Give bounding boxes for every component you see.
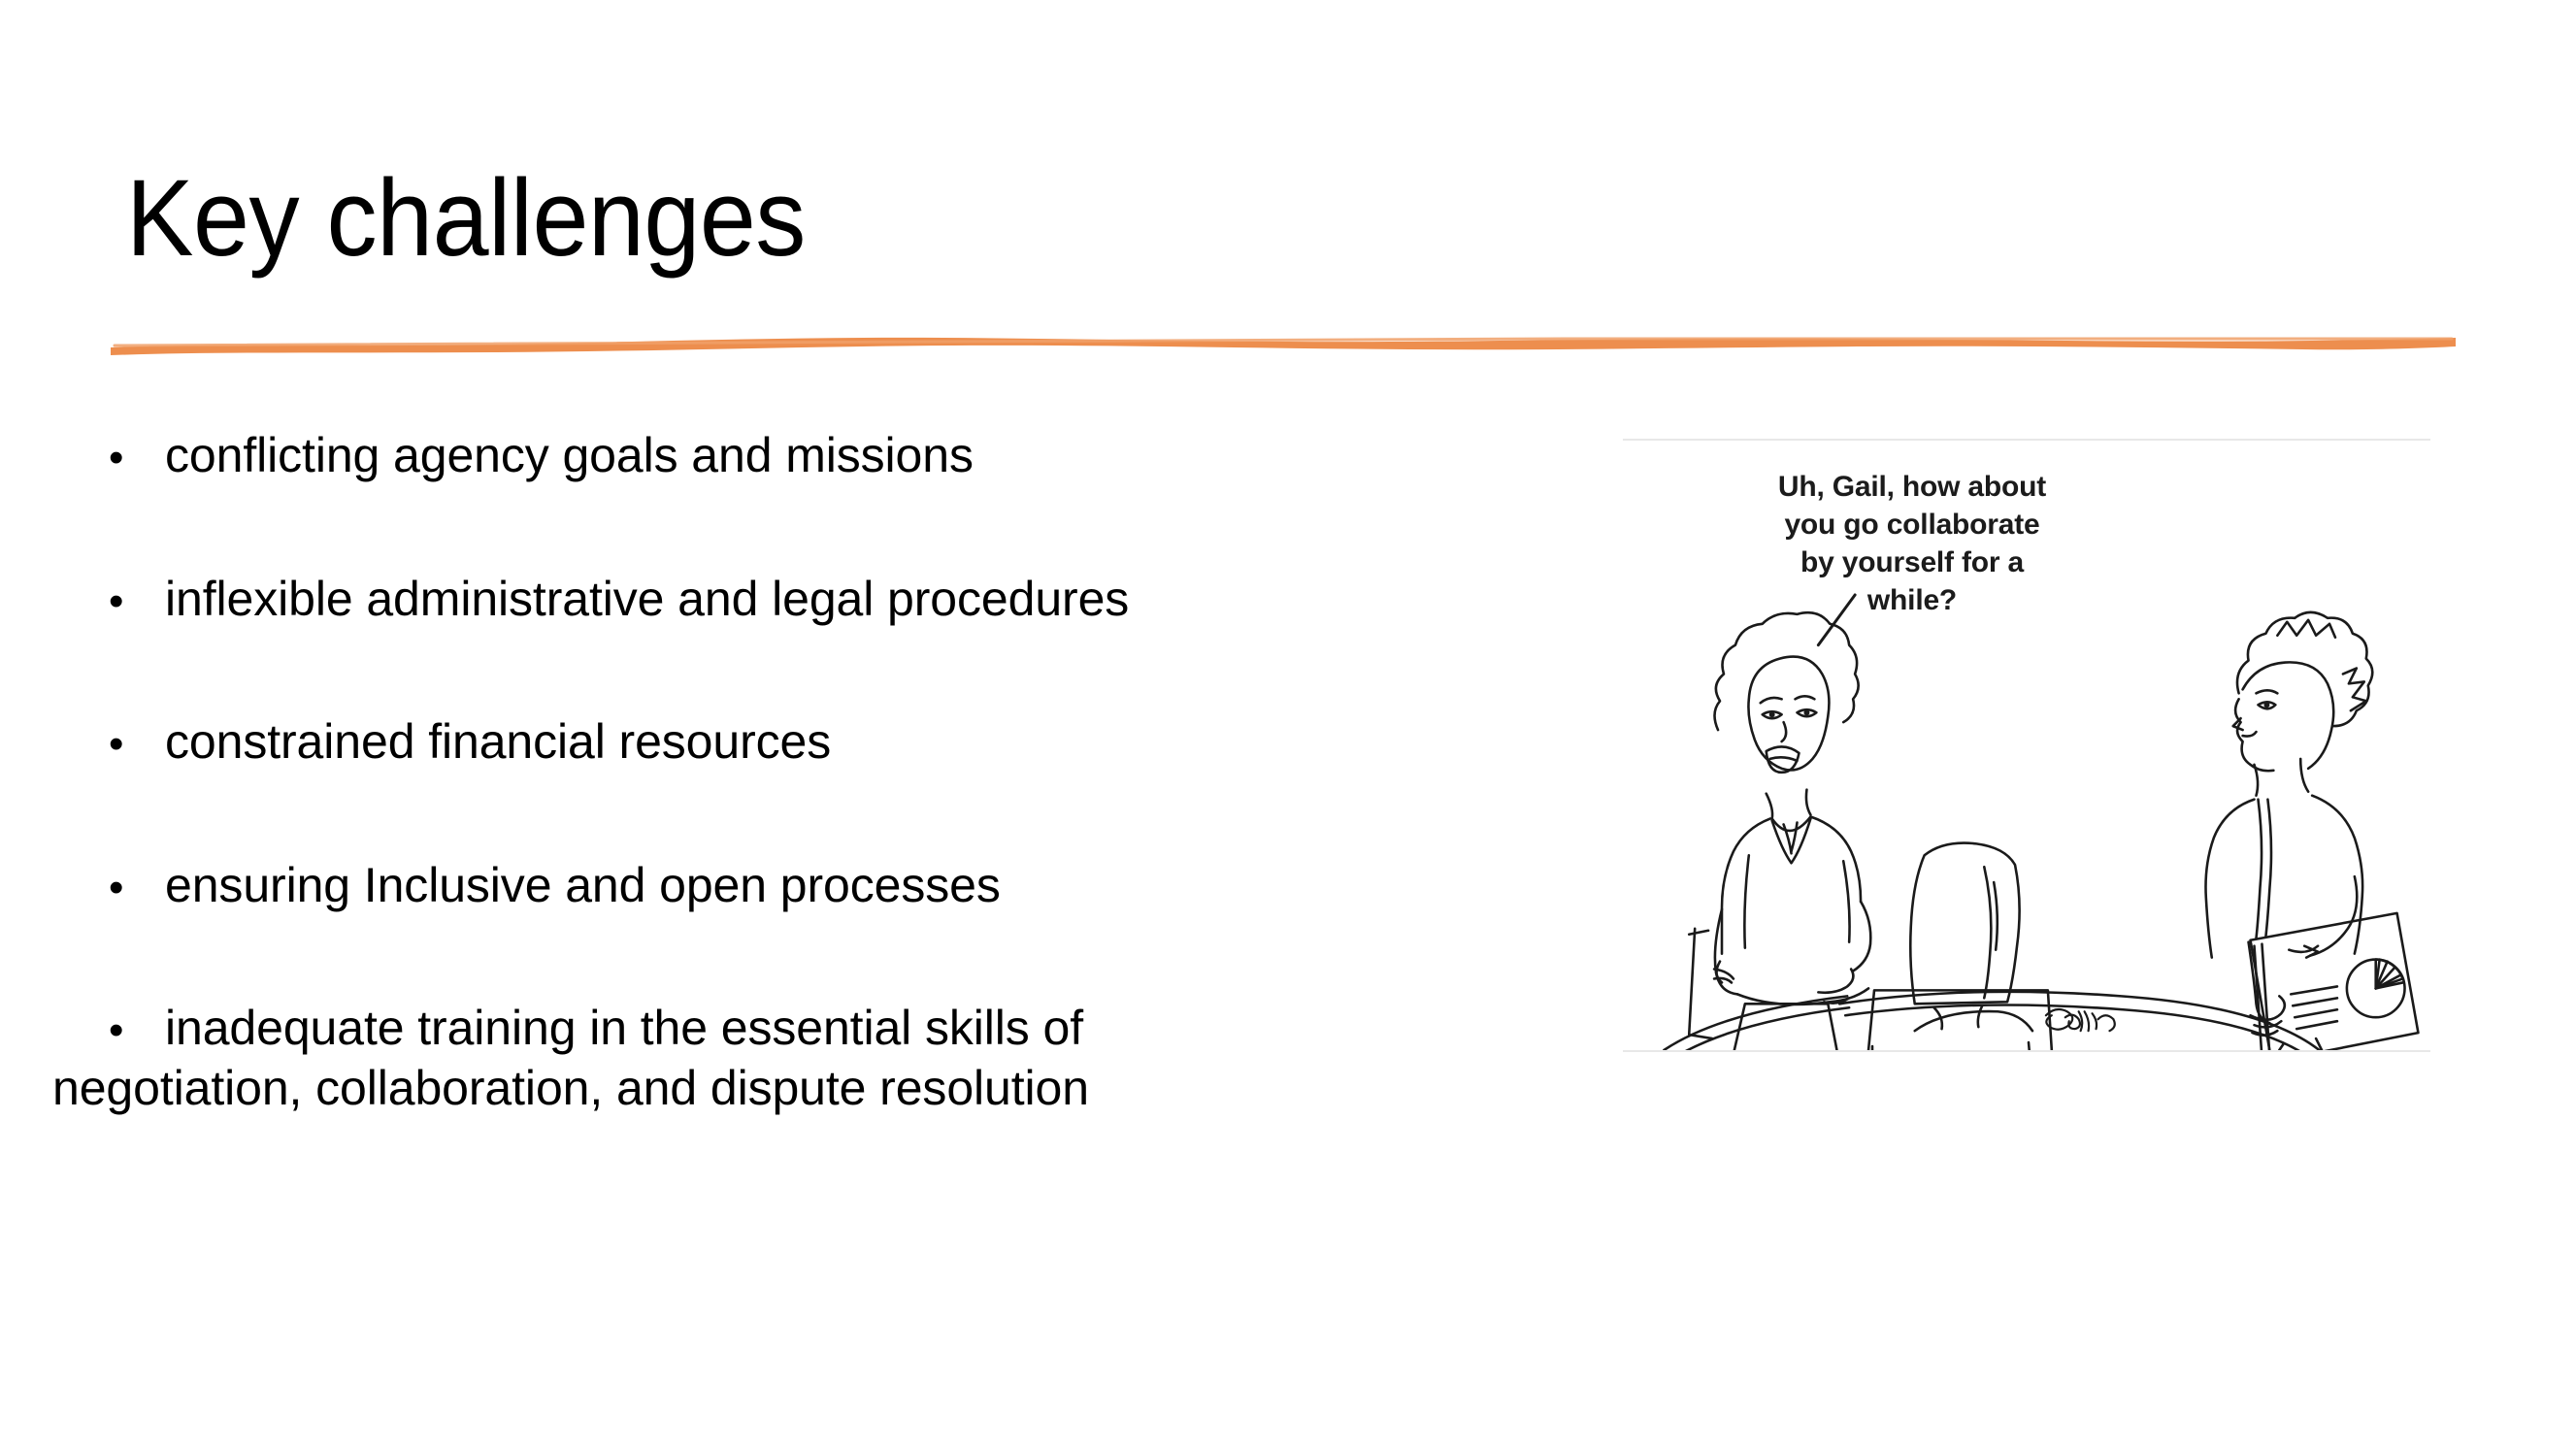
list-item-label: inflexible administrative and legal proc… [165,572,1129,626]
list-item-label: ensuring Inclusive and open processes [165,858,1001,912]
bullet-marker-icon: • [109,867,165,909]
title-underline-accent [109,326,2458,359]
bullet-marker-icon: • [109,437,165,479]
list-item-label: conflicting agency goals and missions [165,428,974,482]
list-item: •inadequate training in the essential sk… [109,1000,1545,1117]
bullet-marker-icon: • [109,1009,165,1052]
page-title: Key challenges [126,163,1436,274]
list-item-label: inadequate training in the essential ski… [165,1001,1083,1055]
list-item: •constrained financial resources [109,713,1545,772]
cartoon-caption: Uh, Gail, how about you go collaborate b… [1708,468,2116,619]
list-item-label: constrained financial resources [165,714,831,769]
list-item-label-continued: negotiation, collaboration, and dispute … [52,1060,1545,1118]
list-item: •inflexible administrative and legal pro… [109,571,1545,629]
bullet-marker-icon: • [109,580,165,623]
caption-line-4: while? [1708,581,2116,619]
caption-line-1: Uh, Gail, how about [1708,468,2116,506]
caption-line-2: you go collaborate [1708,506,2116,543]
key-challenges-list: •conflicting agency goals and missions •… [109,427,1545,1117]
caption-line-3: by yourself for a [1708,543,2116,581]
bullet-marker-icon: • [109,723,165,766]
list-item: •conflicting agency goals and missions [109,427,1545,485]
list-item: •ensuring Inclusive and open processes [109,857,1545,915]
title-block: Key challenges [126,163,1534,309]
slide-canvas: Key challenges •conflicting agency goals… [0,0,2576,1449]
